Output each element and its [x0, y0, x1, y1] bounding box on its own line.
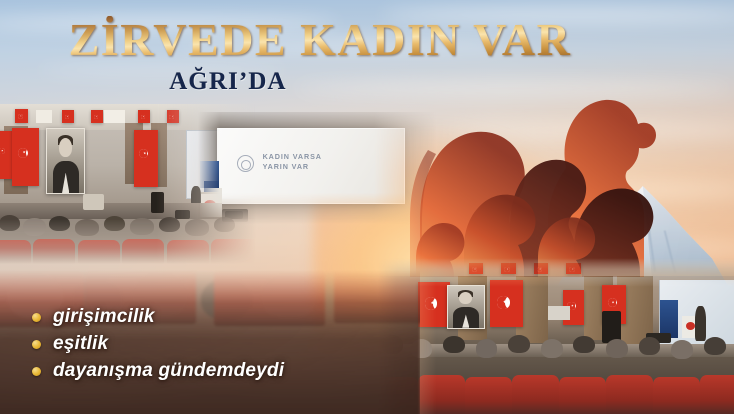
audience-head: [573, 336, 595, 353]
list-item: girişimcilik: [32, 306, 284, 328]
projection-surface: KADIN VARSA YARIN VAR: [217, 128, 405, 204]
audience-head: [476, 339, 498, 358]
list-item: dayanışma gündemdeydi: [32, 360, 284, 382]
turkish-flag-banner: [167, 110, 179, 123]
turkish-flag: [418, 282, 451, 327]
equipment-case: [222, 209, 248, 221]
topic-list: girişimcilik eşitlik dayanışma gündemdey…: [32, 306, 284, 382]
audience-head: [704, 337, 726, 355]
ac-unit: [83, 194, 104, 210]
turkish-flag: [12, 128, 38, 186]
turkish-flag-banner: [15, 109, 28, 123]
audience-head: [130, 218, 154, 234]
theater-seat: [418, 375, 465, 414]
audience-head: [541, 339, 563, 358]
dot-icon: [32, 313, 41, 322]
podium: [200, 188, 221, 217]
audience-head: [508, 335, 530, 353]
silhouette-group-svg: [398, 72, 688, 277]
auditorium-venue-photo: [378, 258, 734, 414]
turkish-flag-banner: [534, 263, 548, 274]
turkish-flag-banner: [138, 110, 150, 123]
page-subtitle: AĞRI’DA: [0, 68, 548, 96]
audience-head: [75, 219, 99, 235]
women-silhouettes-graphic: [398, 72, 688, 277]
turkish-flag: [0, 131, 12, 179]
ac-unit: [548, 306, 570, 320]
theater-seat: [606, 375, 653, 414]
theater-seat: [33, 239, 75, 264]
audience-head: [671, 340, 693, 359]
theater-seat: [700, 375, 734, 414]
white-banner: [36, 110, 52, 123]
turkish-flag-banner: [566, 263, 580, 274]
theater-seat: [167, 240, 209, 264]
audience-head: [159, 217, 180, 232]
white-banner: [104, 110, 125, 123]
headline-block: ZİRVEDE KADIN VAR AĞRI’DA: [0, 16, 640, 96]
theater-seat: [0, 240, 31, 264]
dot-icon: [32, 367, 41, 376]
theater-seat: [653, 377, 700, 414]
ataturk-portrait: [46, 128, 85, 194]
turkish-flag-banner: [469, 263, 483, 274]
theater-seat: [78, 240, 120, 264]
turkish-flag-banner: [91, 110, 103, 123]
promo-poster: KADIN VARSA YARIN VAR: [0, 0, 734, 414]
venue-ceiling: [378, 258, 734, 276]
circular-emblem-icon: [237, 155, 254, 172]
audience-head: [0, 215, 20, 231]
podium-emblem: [686, 322, 695, 330]
audience-head: [23, 218, 47, 235]
projection-text: KADIN VARSA YARIN VAR: [263, 152, 322, 171]
theater-seat: [122, 239, 164, 264]
theater-seat: [465, 377, 512, 414]
theater-seat: [211, 239, 256, 264]
audience-head: [639, 337, 661, 355]
list-item-label: eşitlik: [53, 333, 108, 355]
audience-head: [49, 216, 70, 231]
venue-audience: [378, 332, 734, 414]
page-title: ZİRVEDE KADIN VAR: [0, 16, 640, 64]
dot-icon: [32, 340, 41, 349]
list-item-label: dayanışma gündemdeydi: [53, 360, 284, 382]
turkish-flag-banner: [501, 263, 515, 274]
turkish-flag-banner: [62, 110, 74, 123]
turkish-flag: [490, 280, 523, 326]
audience-head: [606, 339, 628, 358]
audience-head: [104, 216, 125, 231]
theater-seat: [512, 375, 559, 414]
ataturk-portrait: [447, 285, 485, 329]
turkish-flag: [134, 130, 158, 188]
audience-head: [443, 336, 465, 353]
list-item-label: girişimcilik: [53, 306, 155, 328]
list-item: eşitlik: [32, 333, 284, 355]
theater-seat: [559, 377, 606, 414]
